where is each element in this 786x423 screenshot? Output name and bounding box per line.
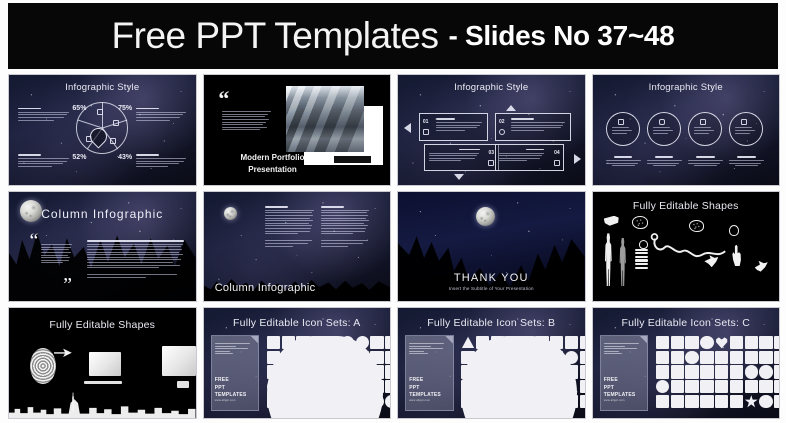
slide-6-column-b — [321, 206, 369, 248]
car-icon[interactable] — [774, 351, 780, 364]
lightbulb-icon — [729, 225, 739, 236]
smiley-icon[interactable] — [385, 395, 391, 408]
arrow-right-icon — [574, 154, 581, 164]
thumbs-up-icon — [97, 109, 103, 115]
slide-thumbnail-4[interactable]: Infographic Style — [592, 74, 781, 186]
slide-thumbnail-7[interactable]: THANK YOU Insert the Subtitle of Your Pr… — [397, 191, 586, 303]
header-main-title: Free PPT Templates — [112, 15, 439, 57]
sun-icon[interactable] — [745, 395, 758, 408]
card-brand-line-2: PPT — [215, 385, 247, 392]
chain-circle-1 — [606, 112, 640, 146]
box-icon[interactable] — [580, 380, 586, 393]
microphone-icon[interactable] — [774, 336, 780, 349]
photo-caption-badge — [334, 156, 371, 163]
slide-thumbnail-12[interactable]: Fully Editable Icon Sets: C FREE PPT TEM… — [592, 307, 781, 419]
slide-thumbnail-10[interactable]: Fully Editable Icon Sets: A FREE PPT TEM… — [203, 307, 392, 419]
record-icon[interactable] — [656, 380, 669, 393]
slide-thumbnail-8[interactable]: Fully Editable Shapes — [592, 191, 781, 303]
slide-thumbnail-1[interactable]: Infographic Style — [8, 74, 197, 186]
slide-1-radial-diagram — [76, 102, 128, 154]
slide-6-title: Column Infographic — [215, 282, 316, 294]
page-header-banner: Free PPT Templates - Slides No 37~48 — [8, 3, 778, 69]
icon-grid-c — [656, 336, 772, 408]
lock-icon[interactable] — [671, 351, 684, 364]
quote-open-icon: “ — [218, 88, 229, 110]
info-box-3: 03 — [424, 144, 499, 171]
phone-icon[interactable] — [730, 365, 743, 378]
tree-icon[interactable] — [774, 395, 780, 408]
briefcase-icon — [113, 120, 119, 126]
dartboard-target-icon — [30, 348, 56, 384]
info-box-3-number: 03 — [489, 150, 495, 156]
thermometer-icon[interactable] — [715, 380, 728, 393]
capsule-icon[interactable] — [580, 365, 586, 378]
chat-icon[interactable] — [461, 336, 577, 419]
briefcase-icon[interactable] — [745, 351, 758, 364]
info-box-4-number: 04 — [554, 150, 560, 156]
slide-1-percent-3: 52% — [72, 154, 86, 161]
free-ppt-templates-card: FREE PPT TEMPLATES www.allppt.com — [405, 335, 453, 412]
slide-8-title: Fully Editable Shapes — [593, 200, 780, 212]
rocket-icon — [488, 160, 494, 166]
stethoscope-network-icon — [650, 229, 740, 266]
brain-network-icon — [689, 220, 704, 232]
chat-icon — [659, 119, 665, 125]
battery-full-icon[interactable] — [700, 365, 713, 378]
moon-photo — [224, 207, 237, 220]
megaphone-icon[interactable] — [759, 336, 772, 349]
cloud-snow-icon[interactable] — [700, 395, 713, 408]
slide-12-title: Fully Editable Icon Sets: C — [593, 317, 780, 329]
slide-10-title: Fully Editable Icon Sets: A — [204, 317, 391, 329]
slide-6-column-a — [265, 206, 313, 248]
free-ppt-templates-card: FREE PPT TEMPLATES www.allppt.com — [211, 335, 259, 412]
signal-icon[interactable] — [715, 365, 728, 378]
book-icon — [554, 160, 560, 166]
wheel-icon[interactable] — [685, 351, 698, 364]
icon-grid-b — [461, 336, 577, 408]
lightbulb-icon — [639, 240, 648, 249]
image-icon — [741, 119, 747, 125]
card-note-lines — [409, 343, 447, 356]
laptop-base — [84, 381, 122, 384]
map-pin-icon[interactable] — [774, 365, 780, 378]
thumbs-up-icon[interactable] — [267, 336, 280, 349]
image-icon — [423, 129, 429, 135]
slide-2-title-line2: Presentation — [226, 164, 319, 176]
slide-thumbnail-9[interactable]: Fully Editable Shapes — [8, 307, 197, 419]
laptop-icon — [89, 352, 121, 376]
slide-5-right-text — [87, 240, 184, 280]
free-ppt-templates-card: FREE PPT TEMPLATES www.allppt.com — [600, 335, 648, 412]
card-brand-line-1: FREE — [409, 377, 441, 384]
calendar-icon[interactable] — [385, 365, 391, 378]
play-icon[interactable] — [671, 380, 684, 393]
book-icon[interactable] — [580, 336, 586, 349]
cloud-rain-icon[interactable] — [671, 395, 684, 408]
slide-4-caption-4 — [729, 156, 764, 168]
slide-1-title: Infographic Style — [9, 82, 196, 93]
monitor-icon — [618, 119, 624, 125]
volume-icon[interactable] — [656, 365, 669, 378]
books-icon — [635, 249, 648, 270]
card-note-lines — [604, 343, 642, 356]
heart-icon[interactable] — [715, 336, 728, 349]
monitor-icon — [162, 346, 196, 376]
plane-icon[interactable] — [759, 351, 772, 364]
card-url: www.allppt.com — [604, 399, 636, 403]
camera-icon[interactable] — [730, 336, 743, 349]
brain-icon — [632, 216, 648, 229]
monitor-stand — [177, 381, 189, 388]
icon-grid-a — [267, 336, 383, 408]
male-symbol-icon[interactable] — [685, 336, 698, 349]
slide-7-subtitle: Insert the Subtitle of Your Presentation — [398, 286, 585, 291]
full-moon-photo — [476, 207, 495, 226]
slide-thumbnail-grid: Infographic Style — [8, 74, 780, 419]
arrow-down-icon — [454, 174, 464, 180]
quote-close-icon: ” — [63, 277, 72, 293]
slide-1-text-block-tl — [18, 108, 68, 122]
info-box-1: 01 — [419, 113, 488, 140]
flag-icon[interactable] — [774, 380, 780, 393]
speech-bubble-icon — [604, 216, 619, 226]
info-box-4: 04 — [495, 144, 564, 171]
storm-icon[interactable] — [715, 395, 728, 408]
card-brand-text: FREE PPT TEMPLATES www.allppt.com — [215, 377, 247, 403]
info-box-1-number: 01 — [423, 119, 429, 125]
cart-icon[interactable] — [385, 336, 391, 349]
female-symbol-icon[interactable] — [700, 336, 713, 349]
slide-thumbnail-2[interactable]: “ Modern Portfolio Presentation — [203, 74, 392, 186]
card-brand-line-1: FREE — [604, 377, 636, 384]
slide-5-left-text — [41, 244, 73, 265]
video-camera-icon[interactable] — [745, 336, 758, 349]
card-brand-line-2: PPT — [604, 385, 636, 392]
drop-icon[interactable] — [580, 395, 586, 408]
woman-icon[interactable] — [671, 336, 684, 349]
card-brand-text: FREE PPT TEMPLATES www.allppt.com — [409, 377, 441, 403]
server-icon — [110, 138, 116, 144]
first-aid-icon[interactable] — [580, 351, 586, 364]
slide-thumbnail-6[interactable]: Column Infographic — [203, 191, 392, 303]
card-brand-line-1: FREE — [215, 377, 247, 384]
snow-mountain-photo — [286, 86, 364, 152]
slide-4-caption-3 — [688, 156, 723, 168]
rocket-icon — [755, 260, 768, 272]
slide-1-text-block-tr — [136, 108, 186, 122]
header-sub-title: - Slides No 37~48 — [448, 20, 674, 52]
arrow-icon — [54, 348, 72, 358]
slide-1-text-block-bl — [18, 154, 68, 168]
slide-gallery-page: Free PPT Templates - Slides No 37~48 Inf… — [0, 0, 786, 423]
quote-open-icon: “ — [30, 233, 39, 249]
report-icon[interactable] — [385, 380, 391, 393]
card-note-lines — [215, 343, 253, 356]
cloud-sun-icon[interactable] — [685, 395, 698, 408]
slide-4-caption-1 — [606, 156, 641, 168]
slide-4-title: Infographic Style — [593, 82, 780, 93]
power-icon[interactable] — [745, 365, 758, 378]
gear-icon — [499, 129, 505, 135]
chain-circle-3 — [688, 112, 722, 146]
slide-5-title: Column Infographic — [9, 207, 196, 221]
home-icon[interactable] — [730, 380, 743, 393]
moon-icon[interactable] — [759, 395, 772, 408]
slide-thumbnail-11[interactable]: Fully Editable Icon Sets: B FREE PPT TEM… — [397, 307, 586, 419]
chain-circle-4 — [729, 112, 763, 146]
slide-thumbnail-5[interactable]: Column Infographic “ ” — [8, 191, 197, 303]
card-url: www.allppt.com — [215, 399, 247, 403]
card-brand-line-2: PPT — [409, 385, 441, 392]
eye-icon[interactable] — [565, 336, 578, 349]
human-figure-icon — [617, 238, 629, 286]
rain-icon[interactable] — [730, 395, 743, 408]
mountain-icon[interactable] — [461, 336, 474, 349]
slide-7-title: THANK YOU — [398, 272, 585, 284]
chat-icon[interactable] — [267, 336, 383, 419]
umbrella-icon[interactable] — [700, 351, 713, 364]
card-brand-text: FREE PPT TEMPLATES www.allppt.com — [604, 377, 636, 403]
anchor-icon[interactable] — [745, 380, 758, 393]
cloud-icon[interactable] — [656, 395, 669, 408]
slide-9-title: Fully Editable Shapes — [9, 319, 196, 331]
gear-icon[interactable] — [700, 380, 713, 393]
hourglass-icon[interactable] — [370, 336, 383, 349]
film-icon[interactable] — [385, 351, 391, 364]
image-icon[interactable] — [685, 380, 698, 393]
document-icon — [700, 119, 706, 125]
battery-half-icon[interactable] — [685, 365, 698, 378]
info-box-2: 02 — [495, 113, 571, 140]
chain-circle-2 — [647, 112, 681, 146]
human-figure-icon — [602, 233, 615, 286]
wrench-icon[interactable] — [715, 351, 728, 364]
boat-icon[interactable] — [759, 380, 772, 393]
arrow-left-icon — [404, 123, 411, 133]
slide-1-percent-4: 43% — [118, 154, 132, 161]
slide-1-text-block-br — [136, 154, 186, 168]
cityscape-icon — [9, 394, 196, 418]
slide-thumbnail-3[interactable]: Infographic Style 01 02 — [397, 74, 586, 186]
rocket-icon[interactable] — [656, 351, 669, 364]
slide-2-title: Modern Portfolio Presentation — [226, 152, 319, 176]
info-box-2-number: 02 — [499, 119, 505, 125]
slide-11-title: Fully Editable Icon Sets: B — [398, 317, 585, 329]
man-icon[interactable] — [656, 336, 669, 349]
slide-4-caption-2 — [647, 156, 682, 168]
card-url: www.allppt.com — [409, 399, 441, 403]
radiation-icon[interactable] — [759, 365, 772, 378]
battery-empty-icon[interactable] — [671, 365, 684, 378]
slide-2-body-text — [222, 111, 270, 132]
arrow-up-icon — [506, 105, 516, 111]
lock-open-icon[interactable] — [730, 351, 743, 364]
slide-2-title-line1: Modern Portfolio — [226, 152, 319, 164]
slide-3-title: Infographic Style — [398, 82, 585, 93]
